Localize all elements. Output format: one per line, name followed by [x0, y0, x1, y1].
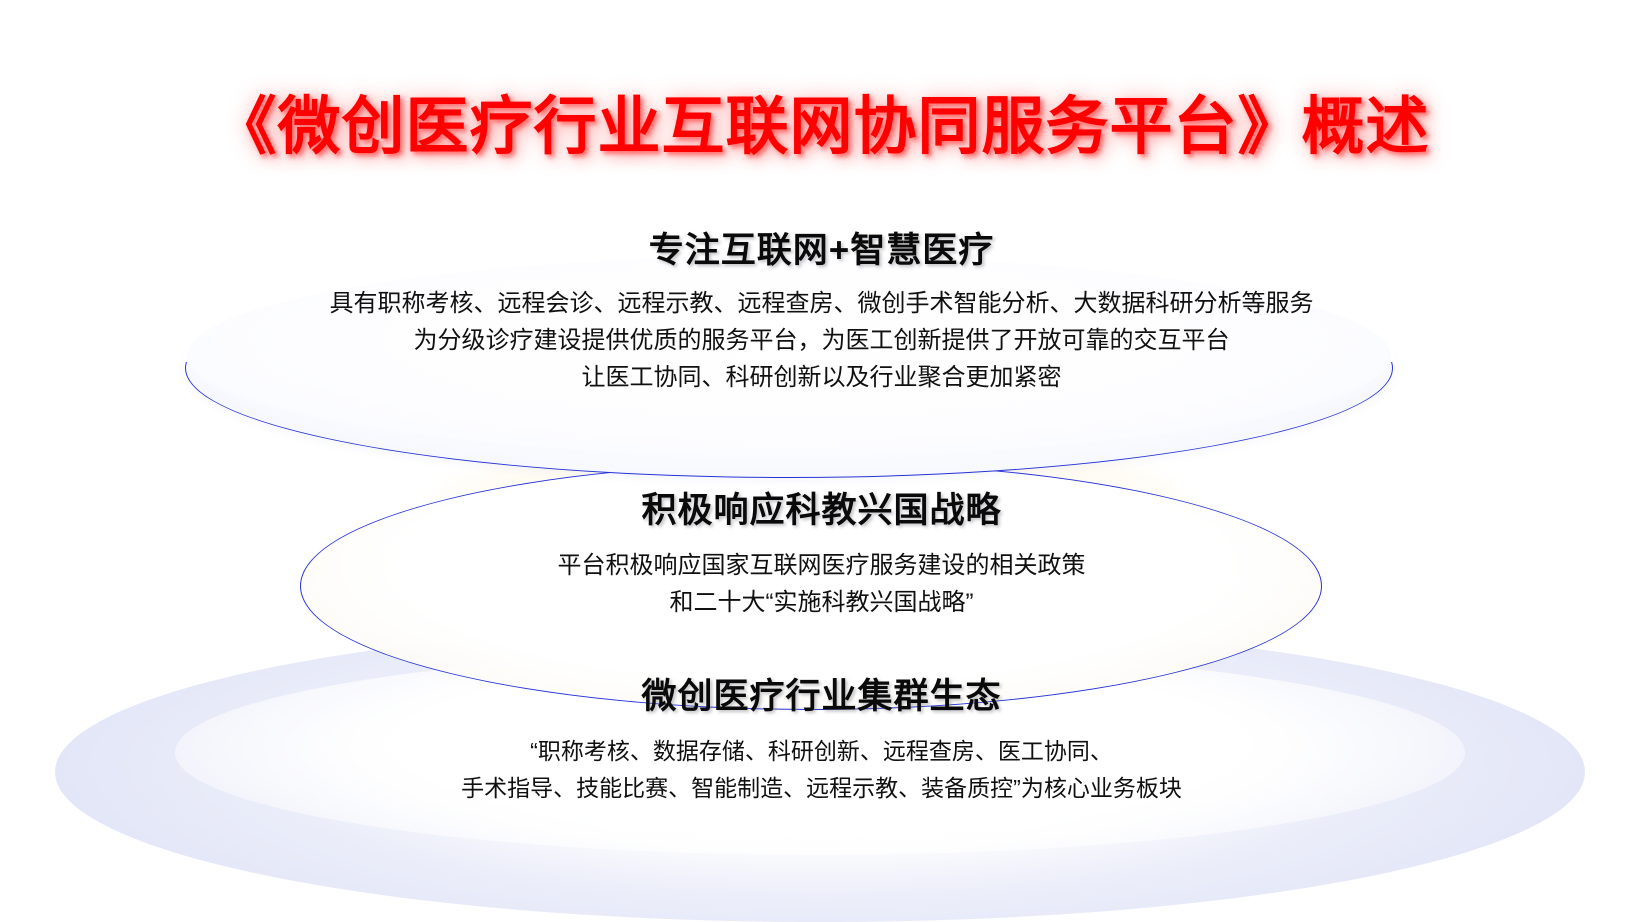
slide-canvas: 《微创医疗行业互联网协同服务平台》概述 专注互联网+智慧医疗 具有职称考核、远程… — [0, 0, 1643, 922]
layer-middle-line-2: 和二十大“实施科教兴国战略” — [0, 584, 1643, 621]
layer-middle-line-1: 平台积极响应国家互联网医疗服务建设的相关政策 — [0, 547, 1643, 584]
layer-middle-heading: 积极响应科教兴国战略 — [0, 482, 1643, 533]
layer-bottom-line-1: “职称考核、数据存储、科研创新、远程查房、医工协同、 — [0, 733, 1643, 770]
layer-top-text: 专注互联网+智慧医疗 具有职称考核、远程会诊、远程示教、远程查房、微创手术智能分… — [0, 222, 1643, 396]
layer-bottom-line-2: 手术指导、技能比赛、智能制造、远程示教、装备质控”为核心业务板块 — [0, 770, 1643, 807]
layer-top-line-2: 为分级诊疗建设提供优质的服务平台，为医工创新提供了开放可靠的交互平台 — [0, 322, 1643, 359]
layer-bottom-body: “职称考核、数据存储、科研创新、远程查房、医工协同、 手术指导、技能比赛、智能制… — [0, 733, 1643, 807]
layer-bottom-text: 微创医疗行业集群生态 “职称考核、数据存储、科研创新、远程查房、医工协同、 手术… — [0, 668, 1643, 807]
layer-top-heading: 专注互联网+智慧医疗 — [0, 222, 1643, 273]
layer-bottom-heading: 微创医疗行业集群生态 — [0, 668, 1643, 719]
layer-top-line-3: 让医工协同、科研创新以及行业聚合更加紧密 — [0, 359, 1643, 396]
layer-middle-body: 平台积极响应国家互联网医疗服务建设的相关政策 和二十大“实施科教兴国战略” — [0, 547, 1643, 621]
layer-top-line-1: 具有职称考核、远程会诊、远程示教、远程查房、微创手术智能分析、大数据科研分析等服… — [0, 285, 1643, 322]
layer-middle-text: 积极响应科教兴国战略 平台积极响应国家互联网医疗服务建设的相关政策 和二十大“实… — [0, 482, 1643, 621]
layer-top-body: 具有职称考核、远程会诊、远程示教、远程查房、微创手术智能分析、大数据科研分析等服… — [0, 285, 1643, 396]
page-title: 《微创医疗行业互联网协同服务平台》概述 — [0, 76, 1643, 167]
